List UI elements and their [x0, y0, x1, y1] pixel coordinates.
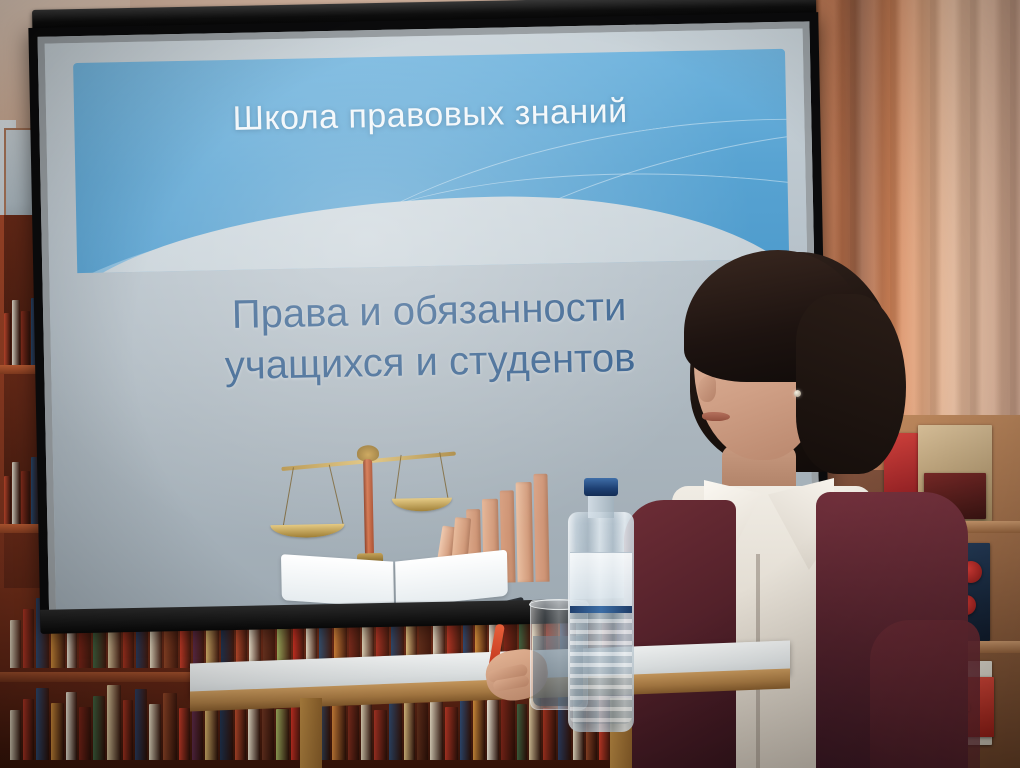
book-spine [51, 703, 64, 760]
book-spine [107, 685, 120, 760]
book-spine [12, 300, 20, 365]
book-spine [21, 311, 30, 365]
slide-banner: Школа правовых знаний [73, 49, 789, 273]
book-spine [163, 693, 176, 760]
open-book-page-left [281, 554, 394, 608]
presenter-arm-right [870, 620, 980, 768]
presenter-hair-side [796, 294, 906, 474]
law-book [533, 474, 549, 582]
book-spine [36, 688, 49, 760]
water-bottle-cap [584, 478, 618, 496]
scale-cord [283, 467, 294, 526]
book-spine [149, 704, 162, 760]
presenter-earring [794, 390, 801, 397]
scale-cord [394, 455, 401, 501]
screenshot-root: Школа правовых знаний Права и обязанност… [0, 0, 1020, 768]
book-spine [179, 708, 190, 760]
book-spine [10, 620, 21, 668]
water-bottle-label-band [570, 606, 632, 613]
water-bottle-label [570, 552, 632, 608]
law-book [516, 482, 534, 582]
book-spine [135, 689, 147, 760]
scale-cord [329, 465, 344, 526]
book-spine [66, 692, 77, 760]
book-spine [10, 710, 21, 760]
book-spine [23, 609, 35, 668]
table-leg-left [300, 698, 322, 768]
balance-scales-pan-left [270, 524, 344, 538]
book-spine [21, 471, 30, 524]
book-spine [12, 462, 20, 524]
book-spine [4, 313, 11, 365]
water-bottle-ribs [570, 608, 632, 724]
presenter-lips [702, 412, 730, 421]
book-spine [4, 476, 11, 524]
book-spine [79, 707, 91, 760]
book-spine [123, 700, 134, 760]
book-spine [93, 696, 106, 760]
balance-scales-post [363, 459, 374, 555]
water-bottle [568, 478, 634, 732]
slide-artwork [263, 433, 597, 612]
book-spine [23, 699, 35, 760]
presenter-nose [698, 376, 716, 402]
